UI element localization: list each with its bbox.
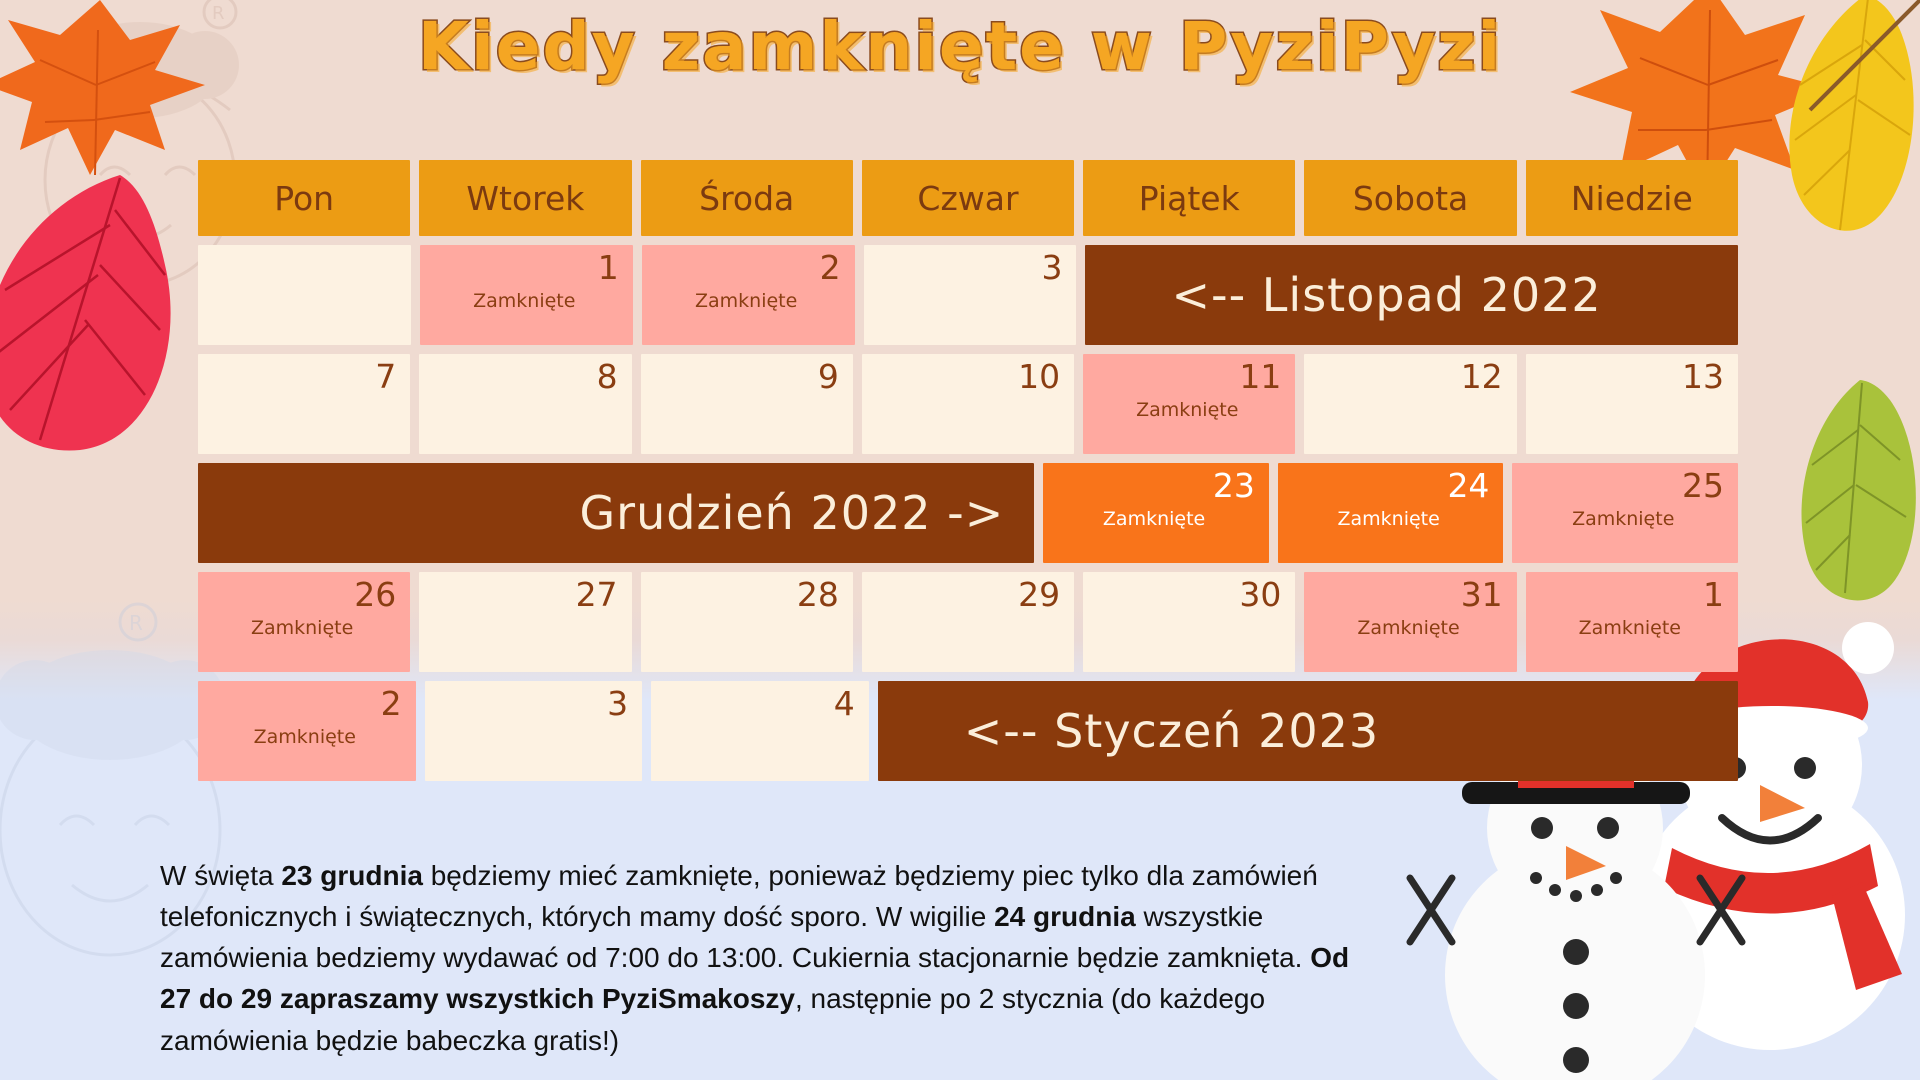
calendar-grid: Pon Wtorek Środa Czwar Piątek Sobota Nie… (198, 160, 1738, 790)
day-number: 30 (1093, 578, 1281, 613)
day-cell-blank (198, 245, 411, 345)
day-cell-9[interactable]: 9 (641, 354, 853, 454)
day-cell-10[interactable]: 10 (862, 354, 1074, 454)
closed-label: Zamknięte (1536, 617, 1724, 639)
note-bold-1: 23 grudnia (281, 860, 423, 891)
day-cell-jan-1[interactable]: 1 Zamknięte (1526, 572, 1738, 672)
day-number: 13 (1536, 360, 1724, 395)
weekday-header-wed: Środa (641, 160, 853, 236)
day-number: 3 (874, 251, 1063, 286)
weekday-header-sat: Sobota (1304, 160, 1516, 236)
closed-label: Zamknięte (1288, 508, 1490, 530)
day-number: 1 (1536, 578, 1724, 613)
closed-label: Zamknięte (1053, 508, 1255, 530)
calendar-header-row: Pon Wtorek Środa Czwar Piątek Sobota Nie… (198, 160, 1738, 236)
day-number: 2 (208, 687, 402, 722)
day-number: 28 (651, 578, 839, 613)
info-paragraph: W święta 23 grudnia będziemy mieć zamkni… (160, 855, 1360, 1061)
weekday-header-sun: Niedzie (1526, 160, 1738, 236)
calendar-week-row-1: 1 Zamknięte 2 Zamknięte 3 <-- Listopad 2… (198, 245, 1738, 345)
month-banner-listopad: <-- Listopad 2022 (1085, 245, 1738, 345)
day-cell-31[interactable]: 31 Zamknięte (1304, 572, 1516, 672)
day-number: 1 (430, 251, 619, 286)
svg-text:R: R (129, 611, 143, 635)
day-cell-jan-3[interactable]: 3 (425, 681, 643, 781)
weekday-header-fri: Piątek (1083, 160, 1295, 236)
day-cell-29[interactable]: 29 (862, 572, 1074, 672)
closed-label: Zamknięte (1314, 617, 1502, 639)
day-number: 24 (1288, 469, 1490, 504)
red-leaf-left-illustration (0, 170, 200, 460)
day-cell-8[interactable]: 8 (419, 354, 631, 454)
note-bold-2: 24 grudnia (994, 901, 1136, 932)
closed-label: Zamknięte (208, 617, 396, 639)
day-number: 31 (1314, 578, 1502, 613)
day-cell-7[interactable]: 7 (198, 354, 410, 454)
day-cell-2[interactable]: 2 Zamknięte (642, 245, 855, 345)
page-title: Kiedy zamknięte w PyziPyzi (418, 8, 1502, 85)
day-cell-jan-2[interactable]: 2 Zamknięte (198, 681, 416, 781)
day-cell-jan-4[interactable]: 4 (651, 681, 869, 781)
day-number: 26 (208, 578, 396, 613)
day-number: 25 (1522, 469, 1724, 504)
day-cell-3[interactable]: 3 (864, 245, 1077, 345)
day-cell-12[interactable]: 12 (1304, 354, 1516, 454)
poster-canvas: R R (0, 0, 1920, 1080)
day-cell-25[interactable]: 25 Zamknięte (1512, 463, 1738, 563)
closed-label: Zamknięte (430, 290, 619, 312)
day-number: 8 (429, 360, 617, 395)
day-number: 7 (208, 360, 396, 395)
day-number: 4 (661, 687, 855, 722)
month-banner-styczen: <-- Styczeń 2023 (878, 681, 1738, 781)
weekday-header-mon: Pon (198, 160, 410, 236)
day-number: 2 (652, 251, 841, 286)
day-cell-13[interactable]: 13 (1526, 354, 1738, 454)
day-number: 3 (435, 687, 629, 722)
day-cell-30[interactable]: 30 (1083, 572, 1295, 672)
day-cell-23[interactable]: 23 Zamknięte (1043, 463, 1269, 563)
day-cell-24[interactable]: 24 Zamknięte (1278, 463, 1504, 563)
day-cell-11[interactable]: 11 Zamknięte (1083, 354, 1295, 454)
weekday-header-tue: Wtorek (419, 160, 631, 236)
closed-label: Zamknięte (1093, 399, 1281, 421)
calendar-week-row-4: 26 Zamknięte 27 28 29 30 31 Zamknięte 1 … (198, 572, 1738, 672)
note-text-1: W święta (160, 860, 281, 891)
day-cell-27[interactable]: 27 (419, 572, 631, 672)
day-number: 27 (429, 578, 617, 613)
day-number: 11 (1093, 360, 1281, 395)
day-number: 12 (1314, 360, 1502, 395)
day-number: 29 (872, 578, 1060, 613)
closed-label: Zamknięte (652, 290, 841, 312)
closed-label: Zamknięte (208, 726, 402, 748)
calendar-week-row-5: 2 Zamknięte 3 4 <-- Styczeń 2023 (198, 681, 1738, 781)
day-number: 10 (872, 360, 1060, 395)
weekday-header-thu: Czwar (862, 160, 1074, 236)
day-cell-1[interactable]: 1 Zamknięte (420, 245, 633, 345)
poster-title-container: Kiedy zamknięte w PyziPyzi (0, 8, 1920, 85)
calendar-week-row-2: 7 8 9 10 11 Zamknięte 12 13 (198, 354, 1738, 454)
month-banner-grudzien: Grudzień 2022 -> (198, 463, 1034, 563)
day-number: 9 (651, 360, 839, 395)
day-cell-28[interactable]: 28 (641, 572, 853, 672)
closed-label: Zamknięte (1522, 508, 1724, 530)
calendar-week-row-3: Grudzień 2022 -> 23 Zamknięte 24 Zamknię… (198, 463, 1738, 563)
day-number: 23 (1053, 469, 1255, 504)
day-cell-26[interactable]: 26 Zamknięte (198, 572, 410, 672)
